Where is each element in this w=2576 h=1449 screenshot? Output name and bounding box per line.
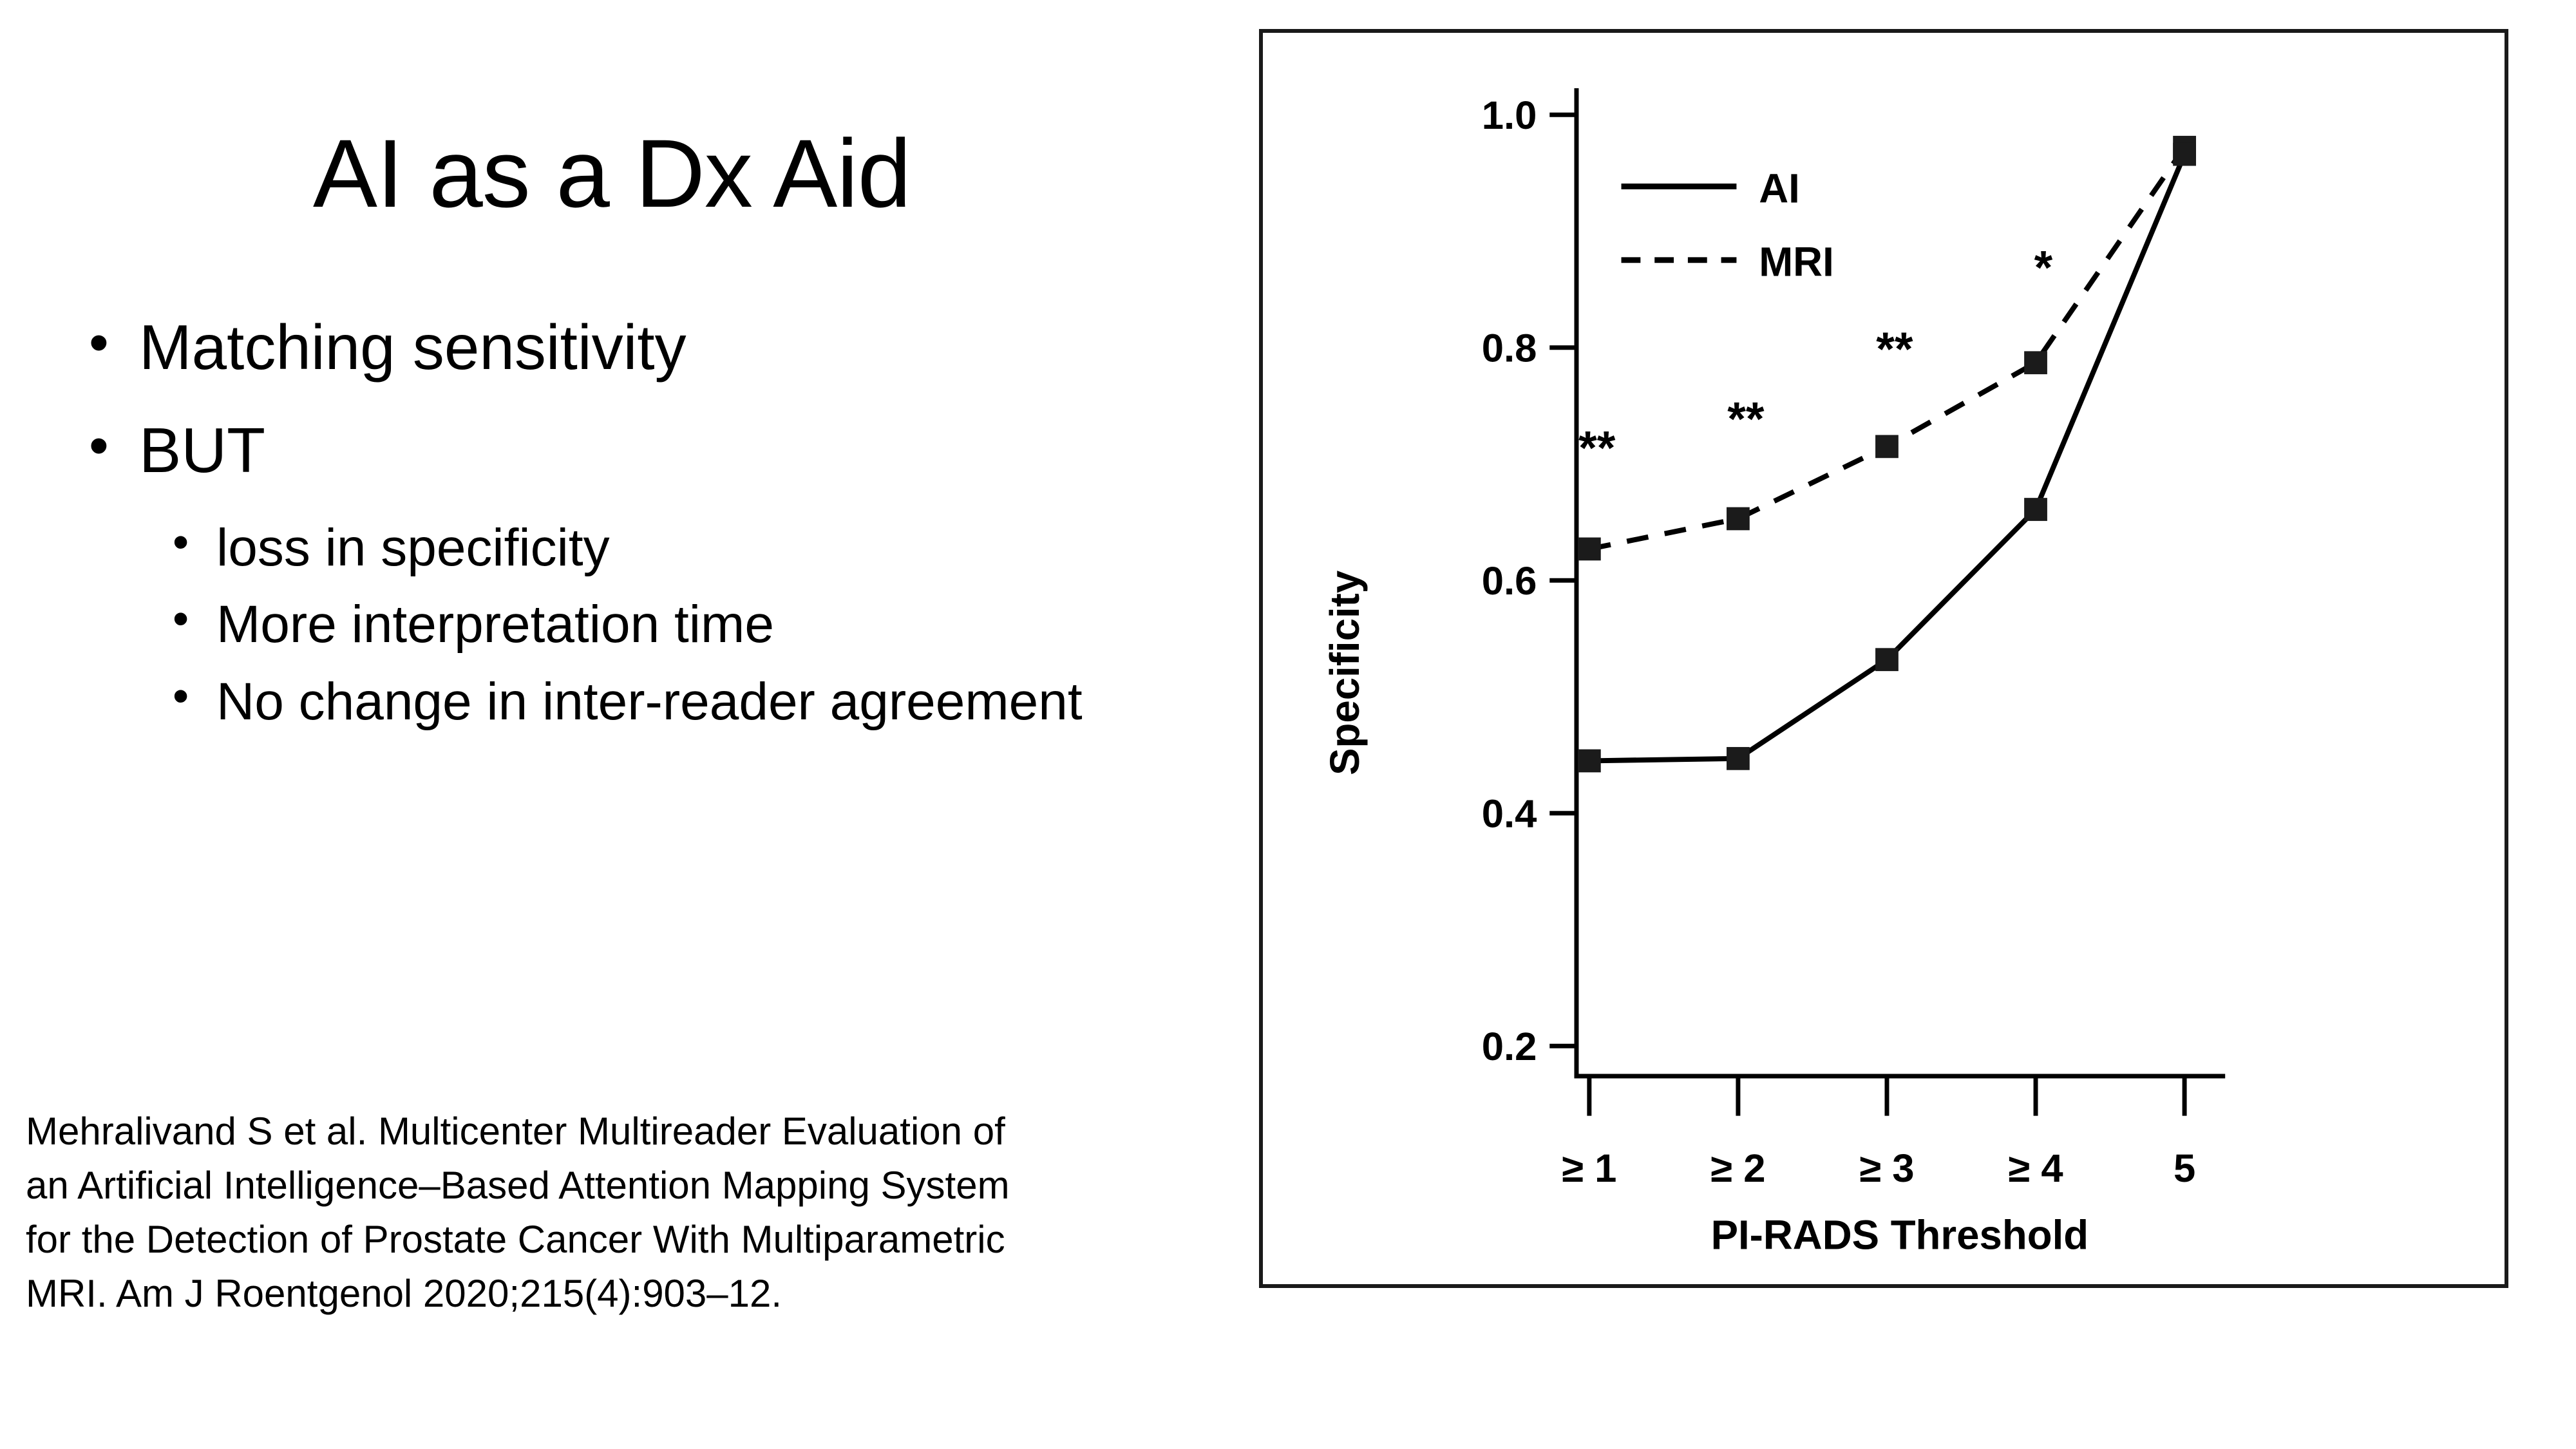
bullet-dot-icon: • bbox=[173, 667, 189, 726]
x-axis-ticks: ≥ 1≥ 2≥ 3≥ 45 bbox=[1562, 1076, 2195, 1191]
x-axis-title: PI-RADS Threshold bbox=[1711, 1212, 2089, 1258]
y-axis-title: Specificity bbox=[1322, 570, 1368, 775]
list-item: • Matching sensitivity bbox=[84, 309, 1262, 386]
list-item-label: No change in inter-reader agreement bbox=[216, 672, 1083, 731]
x-tick-label: ≥ 3 bbox=[1859, 1146, 1914, 1191]
bullet-dot-icon: • bbox=[89, 308, 109, 377]
slide-root: AI as a Dx Aid • Matching sensitivity • … bbox=[0, 0, 2576, 1449]
significance-marker: ** bbox=[1876, 322, 1913, 375]
sub-bullet-list: • loss in specificity • More interpretat… bbox=[84, 515, 1262, 735]
data-point-marker bbox=[1578, 750, 1600, 772]
y-tick-label: 0.6 bbox=[1482, 559, 1537, 603]
data-point-marker bbox=[1876, 435, 1898, 457]
page-title: AI as a Dx Aid bbox=[0, 123, 1224, 225]
legend-label-ai: AI bbox=[1759, 166, 1800, 211]
data-point-marker bbox=[1578, 538, 1600, 560]
citation-line: an Artificial Intelligence–Based Attenti… bbox=[26, 1159, 1275, 1213]
x-tick-label: ≥ 4 bbox=[2008, 1146, 2063, 1191]
x-tick-label: 5 bbox=[2173, 1146, 2195, 1191]
y-axis-ticks: 0.20.40.60.81.0 bbox=[1482, 93, 1577, 1069]
list-item-label: More interpretation time bbox=[216, 595, 774, 654]
bullet-dot-icon: • bbox=[173, 590, 189, 649]
data-point-marker bbox=[2025, 498, 2047, 520]
significance-marker: ** bbox=[1578, 421, 1616, 474]
list-item-label: loss in specificity bbox=[216, 518, 610, 577]
legend-label-mri: MRI bbox=[1759, 240, 1834, 285]
list-item: • loss in specificity bbox=[167, 515, 1262, 581]
significance-marker: * bbox=[2034, 240, 2053, 294]
x-tick-label: ≥ 2 bbox=[1710, 1146, 1765, 1191]
x-tick-label: ≥ 1 bbox=[1562, 1146, 1616, 1191]
list-item-label: Matching sensitivity bbox=[139, 312, 687, 383]
list-item: • No change in inter-reader agreement bbox=[167, 668, 1262, 735]
y-tick-label: 0.8 bbox=[1482, 327, 1537, 371]
bullet-dot-icon: • bbox=[173, 513, 189, 572]
citation-line: MRI. Am J Roentgenol 2020;215(4):903–12. bbox=[26, 1267, 1275, 1321]
data-point-marker bbox=[2173, 144, 2195, 166]
bullet-dot-icon: • bbox=[89, 411, 109, 480]
data-point-marker bbox=[1727, 748, 1749, 770]
list-item-label: BUT bbox=[139, 415, 265, 486]
citation-line: Mehralivand S et al. Multicenter Multire… bbox=[26, 1104, 1275, 1159]
y-tick-label: 0.2 bbox=[1482, 1025, 1537, 1069]
citation-text: Mehralivand S et al. Multicenter Multire… bbox=[26, 1104, 1275, 1321]
figure-panel: 0.20.40.60.81.0 ≥ 1≥ 2≥ 3≥ 45 Specificit… bbox=[1259, 29, 2508, 1288]
slide-content-column: AI as a Dx Aid • Matching sensitivity • … bbox=[0, 0, 1282, 1449]
data-point-marker bbox=[1727, 508, 1749, 530]
y-tick-label: 0.4 bbox=[1482, 792, 1537, 837]
chart-legend: AI MRI bbox=[1622, 166, 1834, 285]
significance-marker: ** bbox=[1727, 392, 1765, 445]
list-item: • More interpretation time bbox=[167, 591, 1262, 658]
bullet-list: • Matching sensitivity • BUT • loss in s… bbox=[84, 309, 1262, 745]
data-point-marker bbox=[2025, 352, 2047, 374]
y-tick-label: 1.0 bbox=[1482, 93, 1537, 138]
citation-line: for the Detection of Prostate Cancer Wit… bbox=[26, 1213, 1275, 1267]
list-item: • BUT bbox=[84, 412, 1262, 489]
data-point-marker bbox=[1876, 649, 1898, 670]
specificity-line-chart: 0.20.40.60.81.0 ≥ 1≥ 2≥ 3≥ 45 Specificit… bbox=[1263, 33, 2505, 1284]
